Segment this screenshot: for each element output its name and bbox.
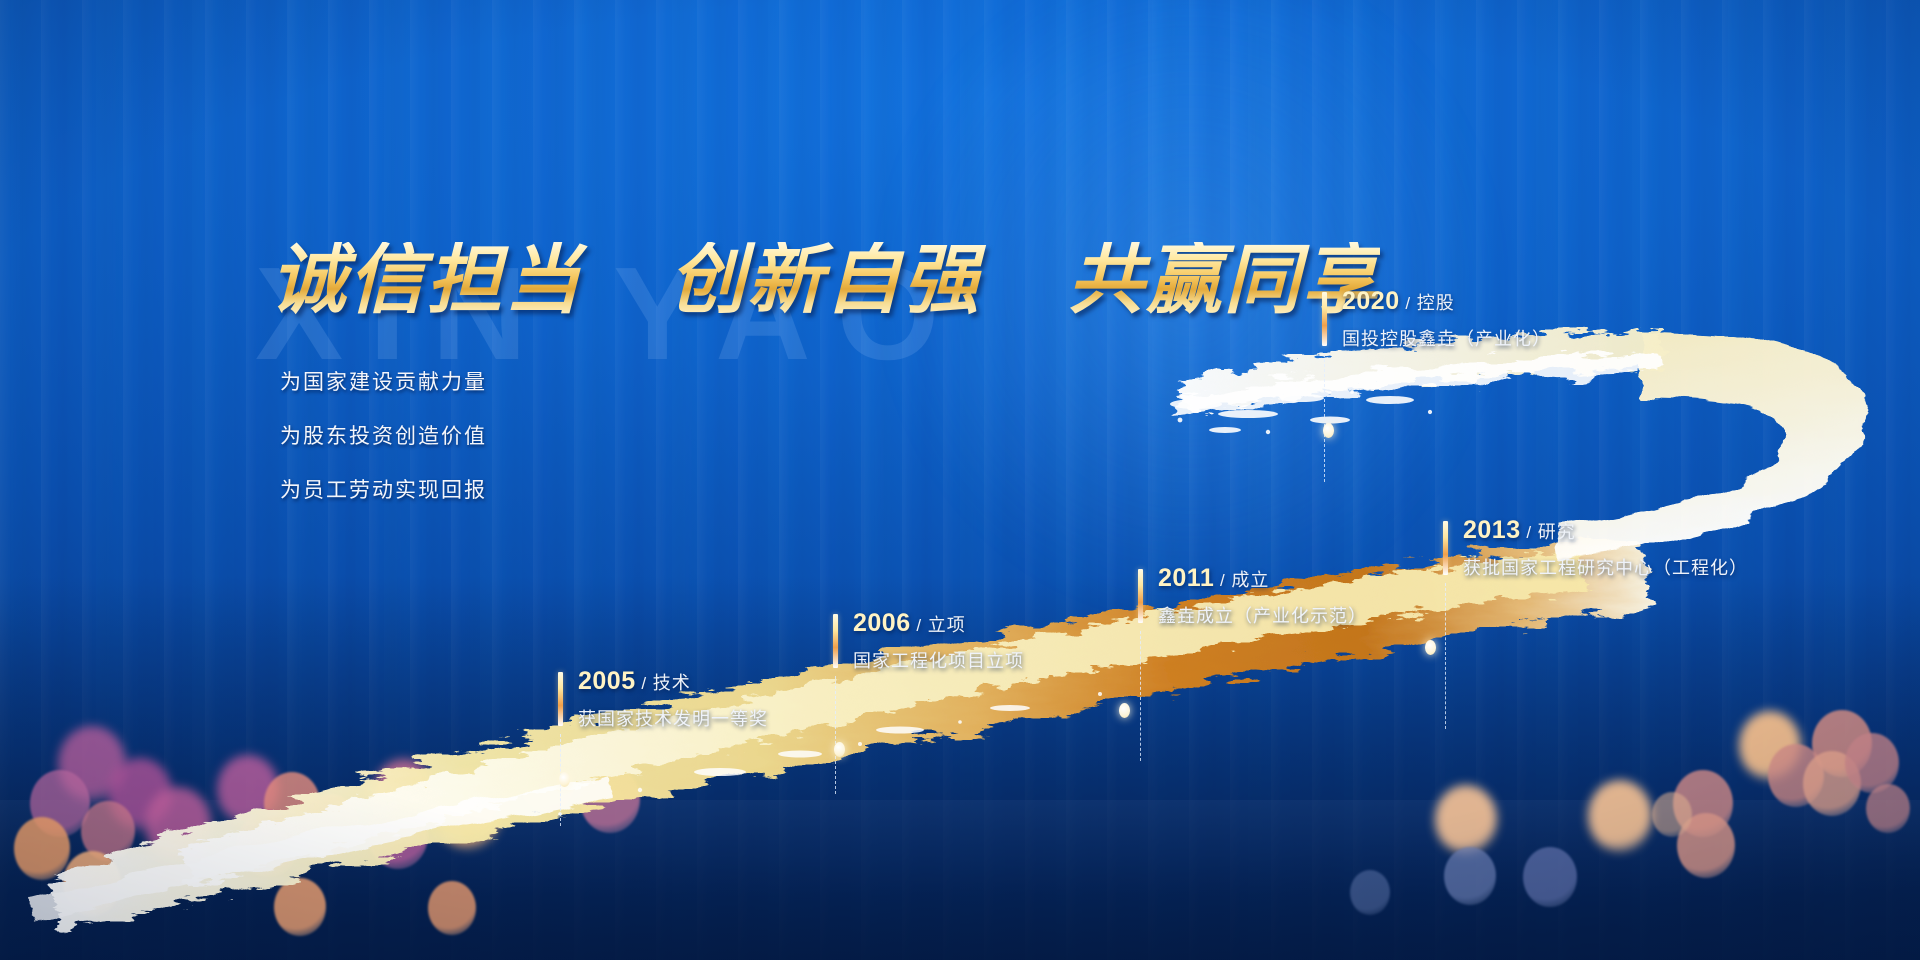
banner-canvas: XIN YAO 诚信担当 创新自强 共赢同享 为国家建设贡献力量 为股东投资创造…: [0, 0, 1920, 960]
background-vignette: [0, 0, 1920, 960]
